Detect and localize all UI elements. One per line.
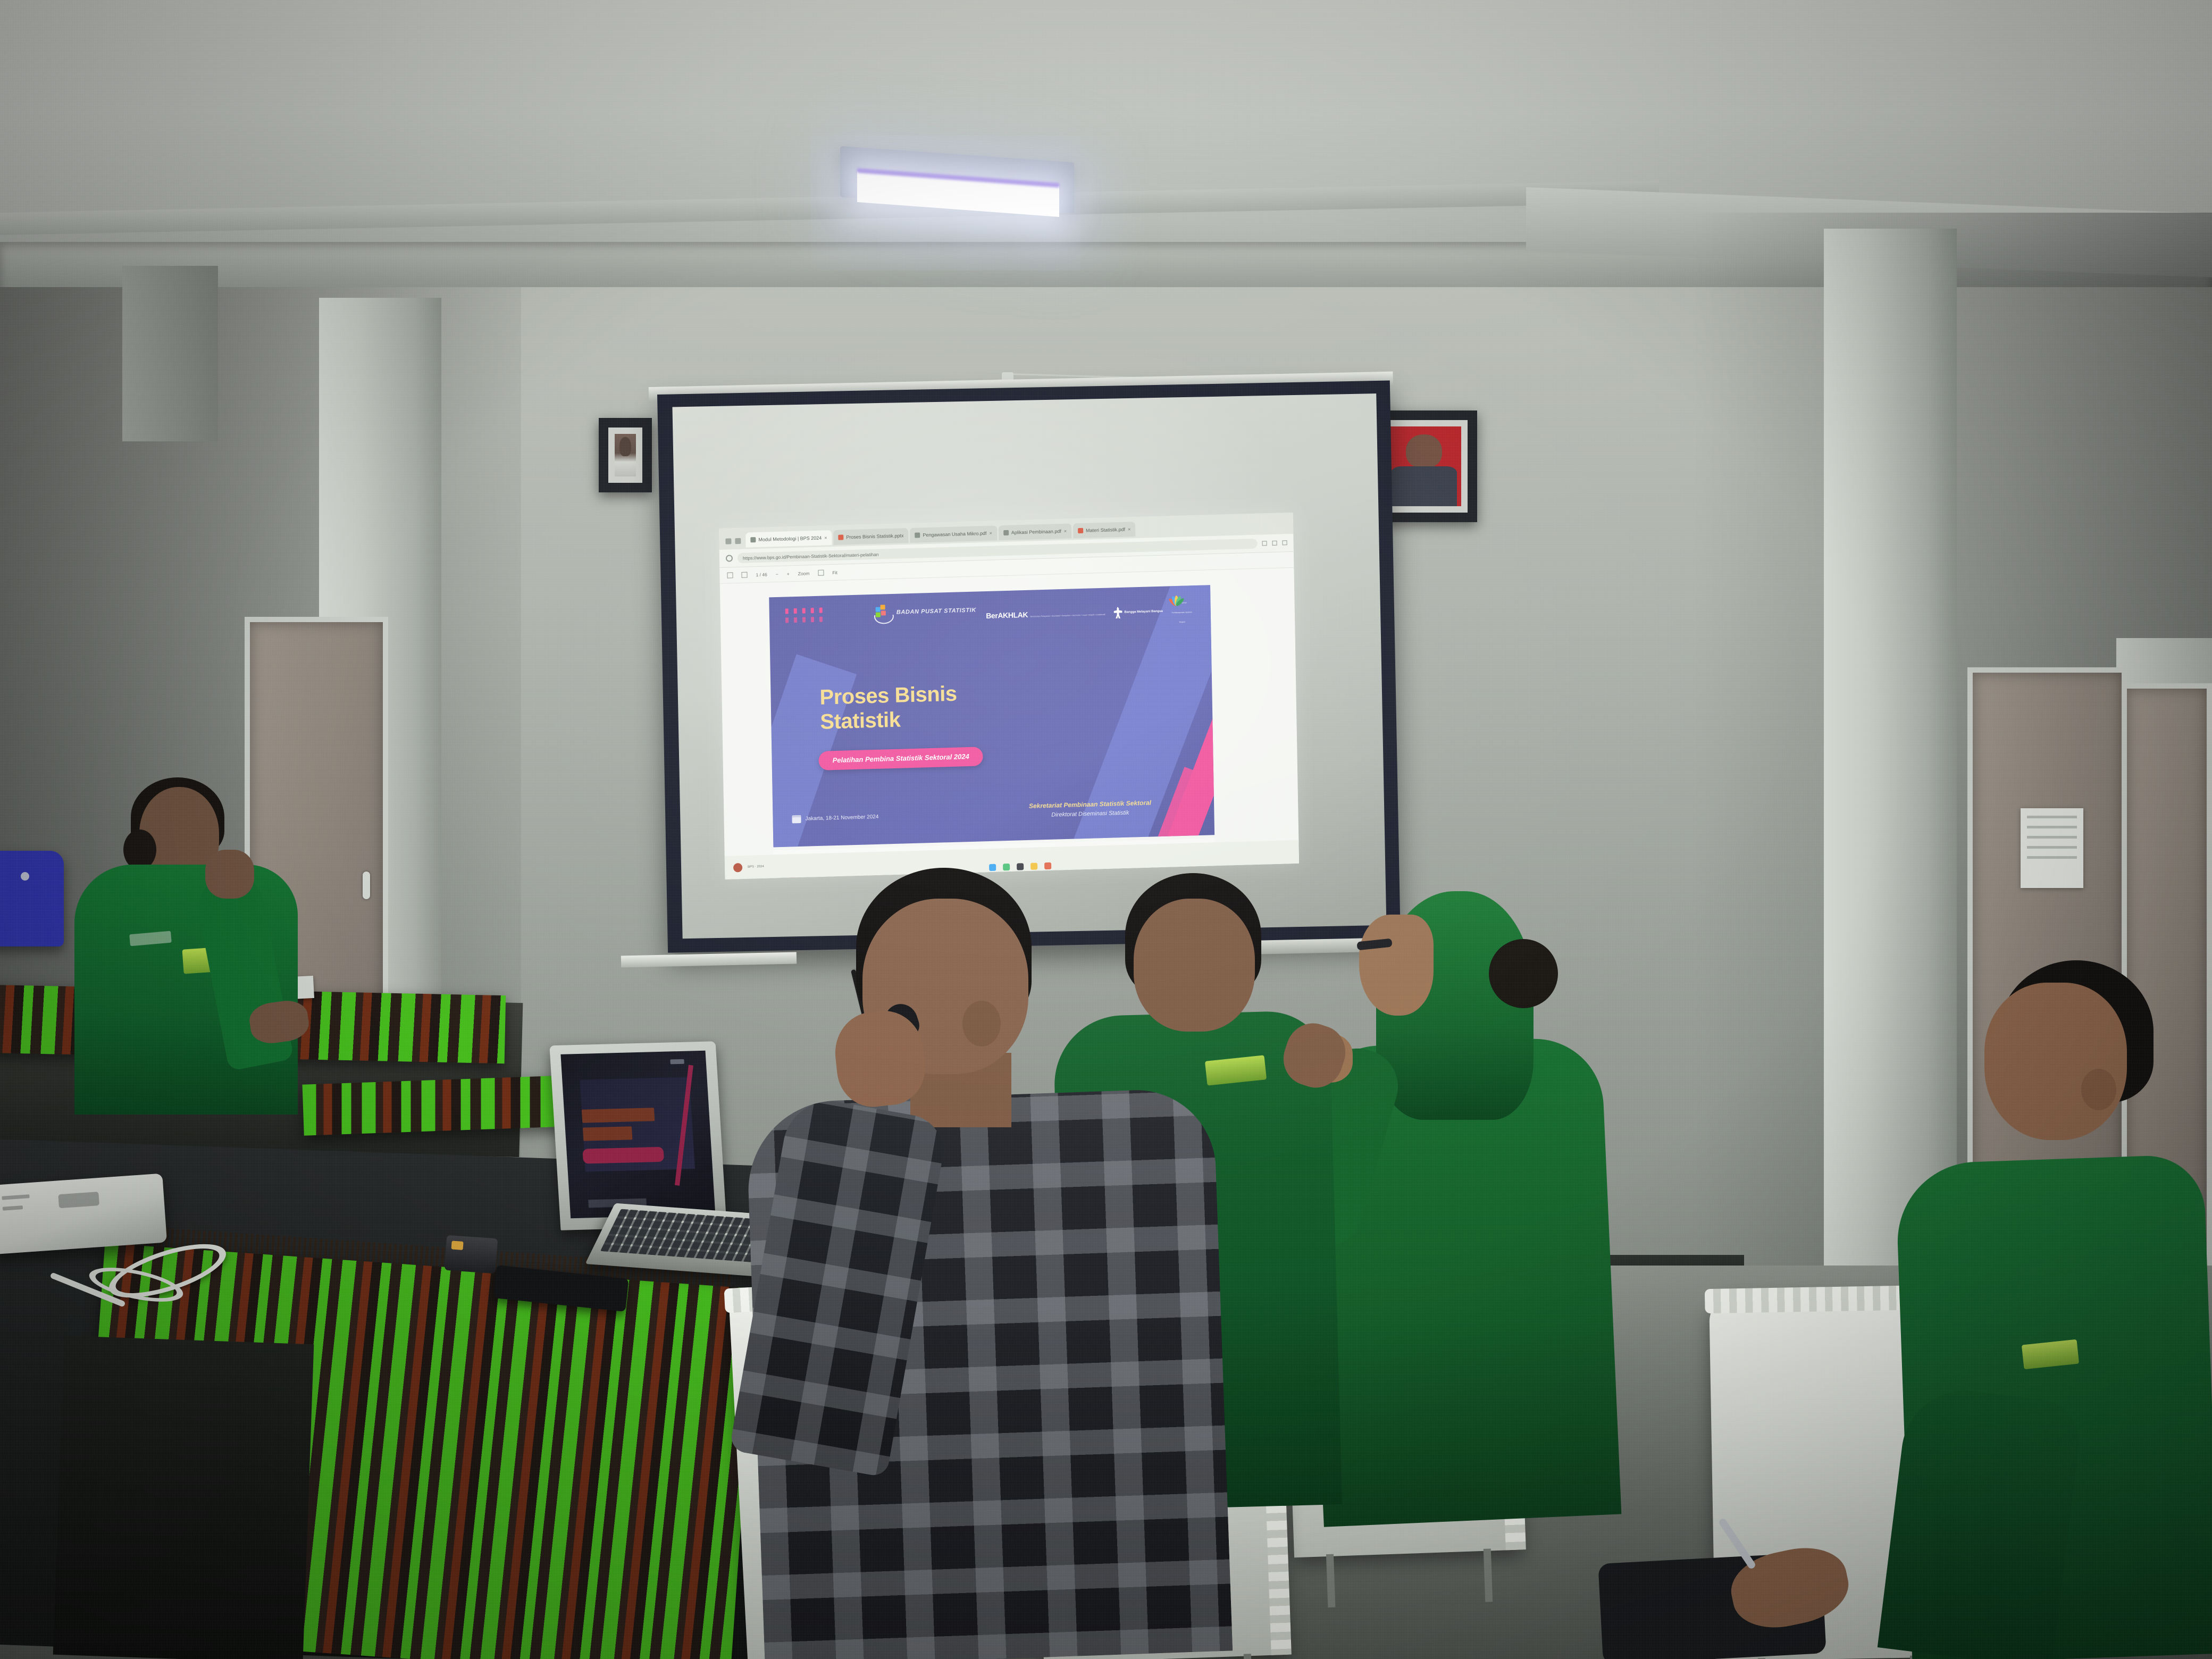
pdf-icon	[1078, 528, 1083, 533]
bangga-melayani-bangsa-logo: Bangga Melayani Bangsa	[1113, 606, 1163, 619]
browser-tab-2[interactable]: Pengawasan Usaha Mikro.pdf ×	[910, 525, 997, 543]
framed-portrait-left	[599, 418, 652, 492]
sidebar-toggle-icon[interactable]	[727, 572, 733, 578]
browser-window-controls-left[interactable]	[722, 538, 744, 548]
green-polo-arm	[1878, 1384, 2084, 1659]
door-handle-icon	[363, 872, 370, 899]
laptop-screen	[560, 1051, 715, 1219]
close-icon[interactable]: ×	[989, 531, 992, 536]
plaid-man-ear	[962, 1001, 1001, 1046]
maximize-icon[interactable]	[1272, 541, 1277, 546]
portrait-photo-suit	[1387, 426, 1461, 506]
berakhlak-values: Berorientasi Pelayanan • Akuntabel • Kom…	[1030, 614, 1105, 618]
laptop-slide-title-line-2	[583, 1126, 633, 1141]
projected-browser-window[interactable]: Modul Metodologi | BPS 2024 × Proses Bis…	[719, 513, 1299, 879]
slide-title: Proses Bisnis Statistik	[819, 682, 958, 735]
tab-list-icon[interactable]	[735, 538, 741, 544]
browser-tab-4[interactable]: Materi Statistik.pdf ×	[1073, 522, 1136, 538]
hijab-woman-face	[1359, 915, 1434, 1016]
slide-decor-dot-grid	[785, 608, 824, 623]
close-icon[interactable]: ×	[1128, 526, 1130, 532]
pdf-viewport[interactable]: BADAN PUSAT STATISTIK BerAKHLAK Berorien…	[720, 568, 1299, 879]
presenter-hand-at-face	[205, 850, 254, 899]
taskbar-app-icons[interactable]	[989, 862, 1051, 871]
app-icon-5[interactable]	[1044, 862, 1051, 869]
green-polo-ear	[2081, 1069, 2116, 1110]
hijab-woman-hair	[1489, 939, 1558, 1008]
kemenpanrb-feather-logo: Kementerian Pendayagunaan Aparatur Negar…	[1171, 596, 1193, 625]
remote-control[interactable]	[445, 1235, 498, 1274]
browser-tab-label: Aplikasi Pembinaan.pdf	[1011, 529, 1061, 535]
slides-icon	[838, 534, 843, 540]
browser-tab-label: Materi Statistik.pdf	[1086, 527, 1125, 533]
organizer-line-1: Sekretariat Pembinaan Statistik Sektoral	[1029, 799, 1151, 809]
portrait-photo-uniform	[615, 434, 636, 476]
slide-title-line-2: Statistik	[820, 706, 958, 735]
berakhlak-logo: BerAKHLAK Berorientasi Pelayanan • Akunt…	[986, 608, 1105, 621]
presenter-hair-bun	[123, 829, 156, 870]
zoom-in-icon[interactable]: +	[787, 571, 790, 576]
podium-cabinet	[53, 1336, 314, 1659]
presenter-laptop[interactable]	[549, 1041, 726, 1230]
window-buttons[interactable]	[1262, 540, 1287, 546]
taskbar-status-text: BPS · 2024	[748, 864, 764, 869]
page-indicator: 1 / 46	[756, 572, 767, 577]
close-icon[interactable]	[1282, 540, 1287, 545]
slide-subtitle-pill: Pelatihan Pembina Statistik Sektoral 202…	[818, 747, 983, 770]
berakhlak-wordmark: BerAKHLAK	[986, 610, 1028, 620]
laptop-slide-title-line-1	[581, 1108, 655, 1122]
close-icon[interactable]: ×	[1064, 529, 1067, 534]
app-icon-1[interactable]	[989, 864, 996, 871]
slide-title-line-1: Proses Bisnis	[819, 682, 957, 710]
calendar-icon	[792, 815, 801, 823]
app-icon-4[interactable]	[1030, 863, 1037, 870]
bangga-melayani-label: Bangga Melayani Bangsa	[1124, 609, 1162, 615]
minimize-icon[interactable]	[1262, 541, 1267, 546]
close-icon[interactable]: ×	[824, 535, 827, 540]
back-icon[interactable]	[725, 538, 731, 544]
slide-date: Jakarta, 18-21 November 2024	[792, 813, 878, 824]
green-shirt-head	[1134, 899, 1255, 1032]
avatar[interactable]	[733, 863, 742, 872]
wall-pilaster-upper	[122, 266, 218, 441]
app-icon-2[interactable]	[1003, 864, 1010, 870]
browser-tab-1[interactable]: Proses Bisnis Statistik.pptx	[833, 528, 908, 545]
slide-date-text: Jakarta, 18-21 November 2024	[805, 814, 878, 822]
browser-tab-0[interactable]: Modul Metodologi | BPS 2024 ×	[745, 530, 832, 548]
browser-tab-label: Modul Metodologi | BPS 2024	[758, 535, 822, 542]
green-polo-head	[1984, 983, 2127, 1140]
page-icon	[750, 537, 756, 542]
blue-plastic-chair[interactable]	[0, 851, 64, 946]
paper-notice	[2021, 808, 2083, 888]
rotate-icon[interactable]	[818, 570, 824, 576]
laptop-slide-subtitle-pill	[582, 1147, 664, 1164]
app-icon-3[interactable]	[1017, 863, 1024, 870]
wall-column-right	[1824, 229, 1957, 1324]
pdf-icon	[1003, 530, 1009, 535]
browser-tab-label: Proses Bisnis Statistik.pptx	[846, 533, 903, 540]
thumbnail-icon[interactable]	[741, 572, 747, 578]
bps-logo-icon	[876, 605, 892, 621]
reload-icon[interactable]	[726, 555, 733, 562]
projector[interactable]	[0, 1174, 167, 1255]
browser-tab-label: Pengawasan Usaha Mikro.pdf	[923, 531, 986, 538]
browser-tab-3[interactable]: Aplikasi Pembinaan.pdf ×	[999, 523, 1072, 540]
zoom-label[interactable]: Zoom	[798, 571, 810, 576]
bps-logo-lockup: BADAN PUSAT STATISTIK	[876, 602, 977, 621]
laptop-slide-logo	[671, 1059, 685, 1065]
slide-organizer: Sekretariat Pembinaan Statistik Sektoral…	[1029, 799, 1152, 818]
person-star-icon	[1113, 607, 1122, 618]
bps-org-name: BADAN PUSAT STATISTIK	[896, 607, 976, 616]
slide-logo-row: BerAKHLAK Berorientasi Pelayanan • Akunt…	[986, 596, 1193, 631]
slide-title-page: BADAN PUSAT STATISTIK BerAKHLAK Berorien…	[769, 585, 1214, 847]
pdf-icon	[915, 532, 920, 538]
photo-scene: Modul Metodologi | BPS 2024 × Proses Bis…	[0, 0, 2212, 1659]
fit-label[interactable]: Fit	[832, 569, 837, 575]
zoom-out-icon[interactable]: −	[776, 571, 778, 576]
